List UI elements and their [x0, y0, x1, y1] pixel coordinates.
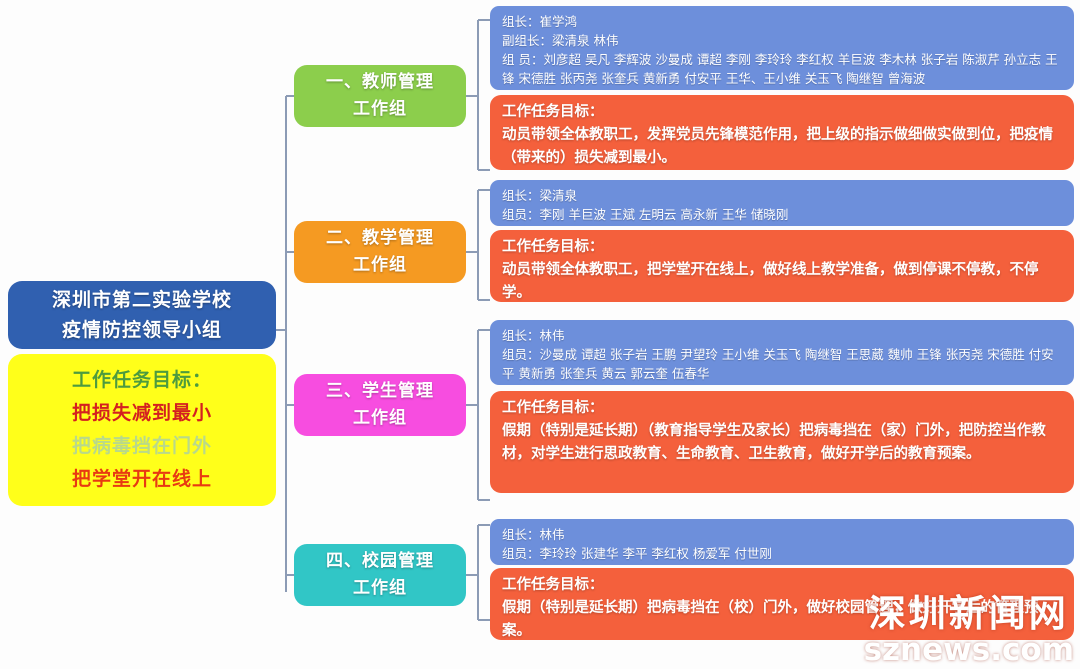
members-row: 组 员：刘彦超 吴凡 李辉波 沙曼成 谭超 李刚 李玲玲 李红权 羊巨波 李木林… [502, 50, 1062, 88]
leader-row: 组长：梁清泉 [502, 186, 1062, 205]
task-body: 动员带领全体教职工，把学堂开在线上，做好线上教学准备，做到停课不停教，不停学。 [502, 259, 1062, 305]
members-label: 组员： [502, 546, 540, 561]
mindmap-canvas: 深圳市第二实验学校 疫情防控领导小组 工作任务目标： 把损失减到最小 把病毒挡在… [0, 0, 1080, 669]
members-label: 组员： [502, 347, 540, 362]
leader-row: 组长：崔学鸿 [502, 12, 1062, 31]
group-name: 教师管理 [362, 72, 434, 92]
members-box-group-3: 组长：林伟 组员：沙曼成 谭超 张子岩 王鹏 尹望玲 王小维 关玉飞 陶继智 王… [490, 320, 1074, 385]
members-label: 组员： [502, 207, 540, 222]
members-box-group-1: 组长：崔学鸿 副组长：梁清泉 林伟 组 员：刘彦超 吴凡 李辉波 沙曼成 谭超 … [490, 6, 1074, 90]
root-goal-line-1: 把损失减到最小 [72, 397, 212, 430]
group-name: 校园管理 [362, 551, 434, 571]
members-names: 李刚 羊巨波 王斌 左明云 高永新 王华 储晓刚 [540, 207, 789, 222]
group-index: 四、 [326, 551, 362, 571]
root-goal-line-3: 把学堂开在线上 [72, 463, 212, 496]
task-heading: 工作任务目标： [502, 397, 1062, 420]
deputy-names: 梁清泉 林伟 [552, 33, 618, 48]
deputy-row: 副组长：梁清泉 林伟 [502, 31, 1062, 50]
group-title-line-2: 工作组 [353, 252, 407, 279]
members-names: 刘彦超 吴凡 李辉波 沙曼成 谭超 李刚 李玲玲 李红权 羊巨波 李木林 张子岩… [502, 52, 1058, 86]
members-row: 组员：沙曼成 谭超 张子岩 王鹏 尹望玲 王小维 关玉飞 陶继智 王思葳 魏帅 … [502, 345, 1062, 383]
task-box-group-1: 工作任务目标： 动员带领全体教职工，发挥党员先锋模范作用，把上级的指示做细做实做… [490, 95, 1074, 170]
group-title-line-2: 工作组 [353, 575, 407, 602]
task-heading: 工作任务目标： [502, 101, 1062, 124]
task-box-group-3: 工作任务目标： 假期（特别是延长期）（教育指导学生及家长）把病毒挡在（家）门外，… [490, 391, 1074, 493]
leader-row: 组长：林伟 [502, 326, 1062, 345]
task-body: 假期（特别是延长期）（教育指导学生及家长）把病毒挡在（家）门外，把防控当作教材，… [502, 420, 1062, 466]
leader-name: 林伟 [540, 527, 565, 542]
task-box-group-4: 工作任务目标： 假期（特别是延长期）把病毒挡在（校）门外，做好校园管理，做好开学… [490, 568, 1074, 640]
leader-row: 组长：林伟 [502, 525, 1062, 544]
members-names: 李玲玲 张建华 李平 李红权 杨爱军 付世刚 [540, 546, 772, 561]
group-pill-teaching-management[interactable]: 二、教学管理 工作组 [294, 221, 466, 283]
task-body: 假期（特别是延长期）把病毒挡在（校）门外，做好校园管理，做好开学后的管理预案。 [502, 597, 1062, 643]
leader-label: 组长： [502, 527, 540, 542]
leader-label: 组长： [502, 328, 540, 343]
group-index: 二、 [326, 228, 362, 248]
group-pill-student-management[interactable]: 三、学生管理 工作组 [294, 374, 466, 436]
group-pill-teacher-management[interactable]: 一、教师管理 工作组 [294, 65, 466, 127]
members-box-group-4: 组长：林伟 组员：李玲玲 张建华 李平 李红权 杨爱军 付世刚 [490, 519, 1074, 565]
members-row: 组员：李玲玲 张建华 李平 李红权 杨爱军 付世刚 [502, 544, 1062, 563]
members-box-group-2: 组长：梁清泉 组员：李刚 羊巨波 王斌 左明云 高永新 王华 储晓刚 [490, 180, 1074, 226]
group-title-line-1: 二、教学管理 [326, 225, 434, 252]
root-title-box: 深圳市第二实验学校 疫情防控领导小组 [8, 281, 276, 349]
group-index: 三、 [326, 381, 362, 401]
group-name: 教学管理 [362, 228, 434, 248]
leader-name: 崔学鸿 [540, 14, 578, 29]
deputy-label: 副组长： [502, 33, 552, 48]
group-title-line-2: 工作组 [353, 405, 407, 432]
group-title-line-2: 工作组 [353, 96, 407, 123]
leader-label: 组长： [502, 14, 540, 29]
root-goal-line-2: 把病毒挡在门外 [72, 430, 212, 463]
group-title-line-1: 四、校园管理 [326, 548, 434, 575]
group-title-line-1: 三、学生管理 [326, 378, 434, 405]
task-body: 动员带领全体教职工，发挥党员先锋模范作用，把上级的指示做细做实做到位，把疫情（带… [502, 124, 1062, 170]
root-goal-heading: 工作任务目标： [72, 364, 212, 397]
task-box-group-2: 工作任务目标： 动员带领全体教职工，把学堂开在线上，做好线上教学准备，做到停课不… [490, 230, 1074, 302]
root-title-line-2: 疫情防控领导小组 [62, 315, 222, 345]
task-heading: 工作任务目标： [502, 574, 1062, 597]
root-goal-box: 工作任务目标： 把损失减到最小 把病毒挡在门外 把学堂开在线上 [8, 354, 276, 506]
root-title-line-1: 深圳市第二实验学校 [52, 285, 232, 315]
group-pill-campus-management[interactable]: 四、校园管理 工作组 [294, 544, 466, 606]
group-name: 学生管理 [362, 381, 434, 401]
members-names: 沙曼成 谭超 张子岩 王鹏 尹望玲 王小维 关玉飞 陶继智 王思葳 魏帅 王锋 … [502, 347, 1054, 381]
members-label: 组 员： [502, 52, 543, 67]
group-index: 一、 [326, 72, 362, 92]
group-title-line-1: 一、教师管理 [326, 69, 434, 96]
leader-name: 林伟 [540, 328, 565, 343]
leader-name: 梁清泉 [540, 188, 578, 203]
task-heading: 工作任务目标： [502, 236, 1062, 259]
leader-label: 组长： [502, 188, 540, 203]
members-row: 组员：李刚 羊巨波 王斌 左明云 高永新 王华 储晓刚 [502, 205, 1062, 224]
